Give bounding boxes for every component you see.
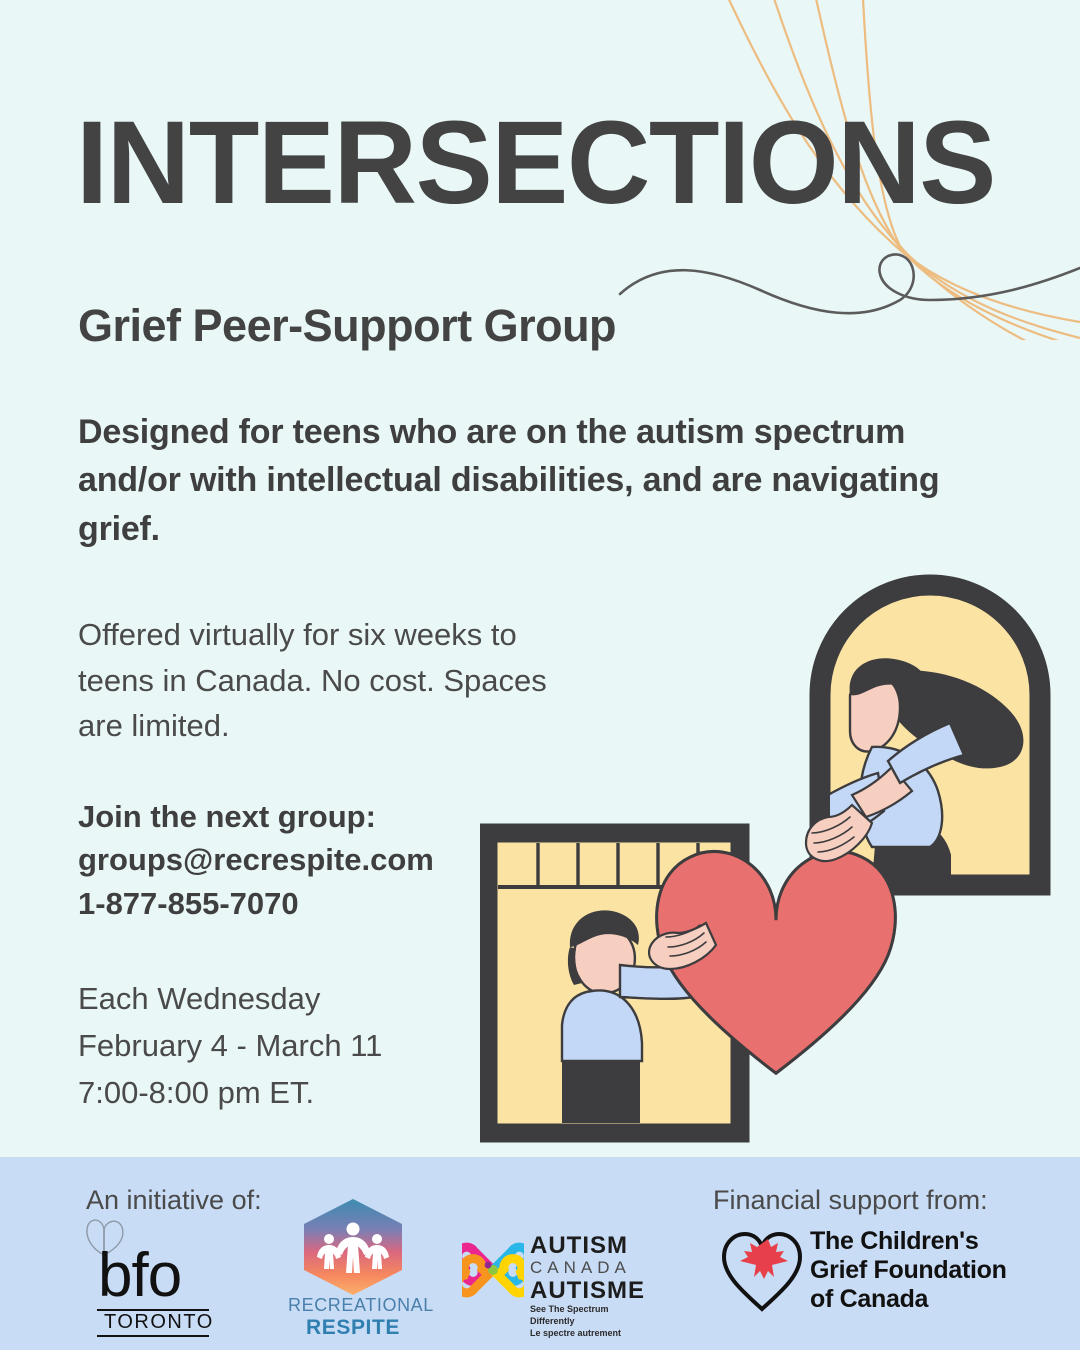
ac-tagline-fr: Le spectre autrement	[530, 1327, 645, 1339]
schedule-time: 7:00-8:00 pm ET.	[78, 1069, 548, 1116]
lead-paragraph: Designed for teens who are on the autism…	[78, 408, 968, 553]
logo-bfo-toronto[interactable]: bfo TORONTO	[80, 1225, 220, 1340]
cgf-line-3: of Canada	[810, 1285, 1007, 1314]
cgf-wordmark: The Children's Grief Foundation of Canad…	[810, 1227, 1007, 1314]
initiative-caption: An initiative of:	[86, 1185, 262, 1216]
schedule-block: Each Wednesday February 4 - March 11 7:0…	[78, 975, 548, 1116]
join-block: Join the next group: groups@recrespite.c…	[78, 795, 548, 925]
ac-line-3: AUTISME	[530, 1278, 645, 1303]
bfo-wordmark: bfo	[98, 1245, 181, 1307]
rr-line-1: RECREATIONAL	[288, 1295, 418, 1316]
hexagon-people-icon	[298, 1197, 408, 1297]
join-heading: Join the next group:	[78, 795, 548, 838]
rr-line-2: RESPITE	[288, 1316, 418, 1340]
logo-autism-canada[interactable]: AUTISM CANADA AUTISME See The Spectrum D…	[462, 1233, 642, 1319]
cgf-line-2: Grief Foundation	[810, 1256, 1007, 1285]
page-title: INTERSECTIONS	[76, 104, 995, 222]
autism-canada-wordmark: AUTISM CANADA AUTISME See The Spectrum D…	[530, 1233, 645, 1339]
footer-band: An initiative of: Financial support from…	[0, 1157, 1080, 1350]
bfo-rule-bottom	[97, 1335, 209, 1337]
bfo-toronto-label: TORONTO	[104, 1311, 214, 1334]
recreational-respite-wordmark: RECREATIONAL RESPITE	[288, 1295, 418, 1340]
logo-childrens-grief-foundation[interactable]: The Children's Grief Foundation of Canad…	[716, 1215, 1016, 1335]
heart-exchange-illustration	[480, 555, 1080, 1155]
schedule-dates: February 4 - March 11	[78, 1022, 548, 1069]
ac-tagline-en: See The Spectrum Differently	[530, 1303, 645, 1327]
poster-canvas: INTERSECTIONS Grief Peer-Support Group D…	[0, 0, 1080, 1350]
ac-line-1: AUTISM	[530, 1233, 645, 1258]
page-subtitle: Grief Peer-Support Group	[78, 300, 616, 352]
heart-maple-leaf-icon	[716, 1221, 808, 1317]
ac-line-2: CANADA	[530, 1258, 645, 1278]
cgf-line-1: The Children's	[810, 1227, 1007, 1256]
schedule-day: Each Wednesday	[78, 975, 548, 1022]
logo-recreational-respite[interactable]: RECREATIONAL RESPITE	[288, 1197, 418, 1342]
join-email[interactable]: groups@recrespite.com	[78, 838, 548, 881]
join-phone[interactable]: 1-877-855-7070	[78, 882, 548, 925]
financial-caption: Financial support from:	[713, 1185, 988, 1216]
autism-canada-knot-icon	[462, 1239, 524, 1299]
